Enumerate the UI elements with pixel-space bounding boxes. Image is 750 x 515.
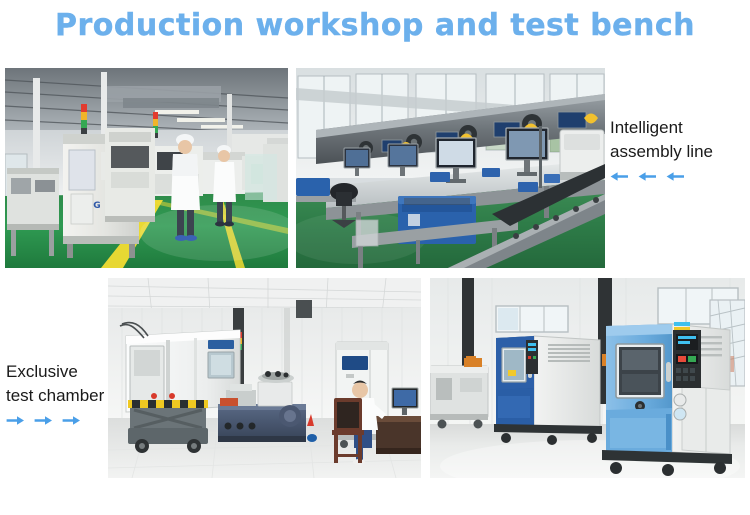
photo-intelligent-assembly-line <box>296 68 605 268</box>
assembly-line-illustration <box>296 68 605 268</box>
page-root: Production workshop and test bench <box>0 0 750 515</box>
smt-line-illustration: G <box>5 68 288 268</box>
callout-testlab-line2: test chamber <box>6 384 104 408</box>
test-lab-illustration <box>108 278 421 478</box>
test-chambers-illustration <box>430 278 745 478</box>
callout-assembly-line1: Intelligent <box>610 116 713 140</box>
callout-testlab-line1: Exclusive <box>6 360 104 384</box>
callout-assembly-line2: assembly line <box>610 140 713 164</box>
photo-smt-production-line: G <box>5 68 288 268</box>
svg-text:G: G <box>93 201 100 211</box>
arrow-left-icon-3 <box>666 171 685 182</box>
arrow-row-right <box>6 415 104 426</box>
page-title: Production workshop and test bench <box>0 8 750 43</box>
callout-intelligent-assembly-line: Intelligent assembly line <box>610 116 713 182</box>
photo-environmental-test-chambers <box>430 278 745 478</box>
arrow-row-left <box>610 171 713 182</box>
arrow-right-icon-3 <box>62 415 81 426</box>
arrow-left-icon-1 <box>610 171 629 182</box>
arrow-right-icon-1 <box>6 415 25 426</box>
arrow-left-icon-2 <box>638 171 657 182</box>
arrow-right-icon-2 <box>34 415 53 426</box>
photo-vibration-test-lab <box>108 278 421 478</box>
callout-exclusive-test-chamber: Exclusive test chamber <box>6 360 104 426</box>
